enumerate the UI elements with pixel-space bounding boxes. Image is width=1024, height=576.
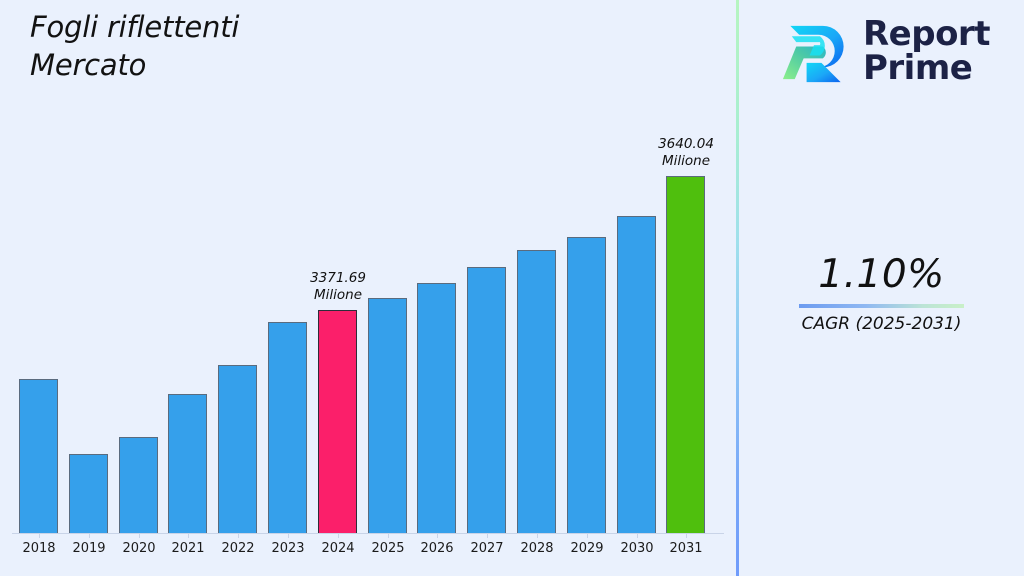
bar-2025[interactable] (368, 298, 407, 533)
cagr-block: 1.10% CAGR (2025-2031) (739, 252, 1024, 335)
bar-chart-plot-area: 20182019202020212022202320243371.69 Mili… (0, 0, 737, 576)
bar-2020[interactable] (119, 437, 158, 533)
x-axis-tick-2021 (188, 533, 189, 538)
report-prime-logo-icon (777, 14, 851, 88)
cagr-caption: CAGR (2025-2031) (739, 313, 1024, 335)
bar-2027[interactable] (467, 267, 506, 533)
x-axis-tick-2031 (686, 533, 687, 538)
x-axis-line (12, 533, 724, 534)
x-axis-tick-2030 (637, 533, 638, 538)
x-axis-tick-2026 (437, 533, 438, 538)
bar-2021[interactable] (168, 394, 207, 533)
bar-2028[interactable] (517, 250, 556, 533)
brand-panel: Report Prime 1.10% CAGR (2025-2031) (739, 0, 1024, 576)
bar-2031[interactable] (666, 176, 705, 533)
bar-value-label-2031: 3640.04 Milione (626, 136, 746, 170)
chart-infographic-page: Fogli riflettenti Mercato 20182019202020… (0, 0, 1024, 576)
bar-2023[interactable] (268, 322, 307, 533)
bar-2018[interactable] (19, 379, 58, 533)
bar-2030[interactable] (617, 216, 656, 533)
bar-2024[interactable] (318, 310, 357, 533)
x-axis-tick-2028 (537, 533, 538, 538)
chart-panel: Fogli riflettenti Mercato 20182019202020… (0, 0, 737, 576)
bar-2022[interactable] (218, 365, 257, 533)
x-axis-tick-2024 (338, 533, 339, 538)
x-axis-label-2031: 2031 (656, 541, 716, 556)
x-axis-tick-2019 (89, 533, 90, 538)
bar-2026[interactable] (417, 283, 456, 533)
cagr-value: 1.10% (739, 252, 1024, 298)
x-axis-tick-2029 (587, 533, 588, 538)
cagr-divider-rule (799, 304, 964, 308)
x-axis-tick-2027 (487, 533, 488, 538)
brand-logo: Report Prime (777, 14, 990, 88)
x-axis-tick-2025 (388, 533, 389, 538)
x-axis-tick-2018 (39, 533, 40, 538)
bar-2019[interactable] (69, 454, 108, 533)
brand-wordmark: Report Prime (863, 17, 990, 85)
x-axis-tick-2020 (139, 533, 140, 538)
x-axis-tick-2022 (238, 533, 239, 538)
bar-2029[interactable] (567, 237, 606, 533)
x-axis-tick-2023 (288, 533, 289, 538)
